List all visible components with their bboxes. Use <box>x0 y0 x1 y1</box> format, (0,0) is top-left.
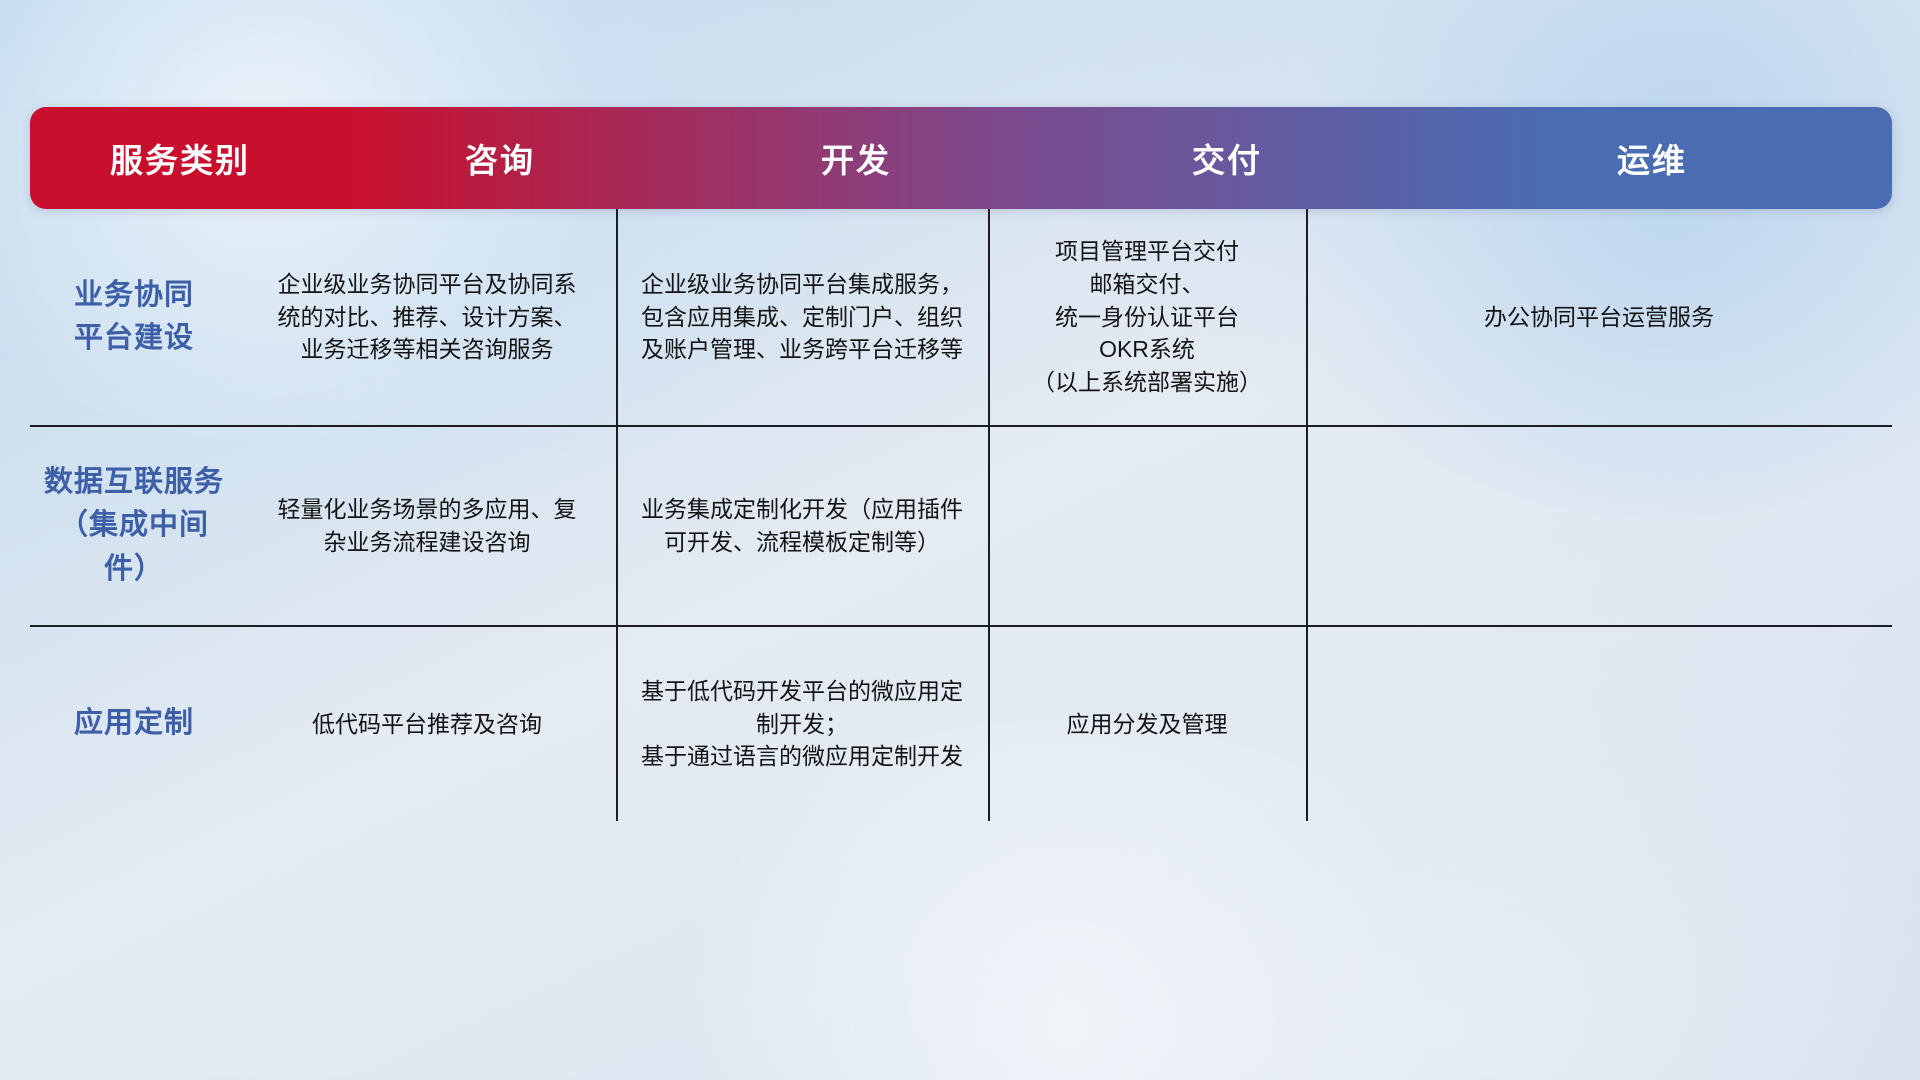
cell-delivery <box>988 427 1306 625</box>
table-row: 应用定制 低代码平台推荐及咨询 基于低代码开发平台的微应用定 制开发； 基于通过… <box>30 625 1892 821</box>
cell-category: 应用定制 <box>30 627 238 821</box>
cell-delivery: 应用分发及管理 <box>988 627 1306 821</box>
cell-development: 企业级业务协同平台集成服务， 包含应用集成、定制门户、组织 及账户管理、业务跨平… <box>616 209 988 425</box>
cell-operations: 办公协同平台运营服务 <box>1306 209 1892 425</box>
service-category-table: 服务类别 咨询 开发 交付 运维 业务协同 平台建设 企业级业务协同平台及协同系… <box>30 107 1892 821</box>
slide-canvas: 服务类别 咨询 开发 交付 运维 业务协同 平台建设 企业级业务协同平台及协同系… <box>0 0 1920 1080</box>
cell-category: 业务协同 平台建设 <box>30 209 238 425</box>
cell-operations <box>1306 627 1892 821</box>
cell-development: 业务集成定制化开发（应用插件 可开发、流程模板定制等） <box>616 427 988 625</box>
table-body: 业务协同 平台建设 企业级业务协同平台及协同系 统的对比、推荐、设计方案、 业务… <box>30 209 1892 821</box>
table-row: 业务协同 平台建设 企业级业务协同平台及协同系 统的对比、推荐、设计方案、 业务… <box>30 209 1892 425</box>
cell-consulting: 轻量化业务场景的多应用、复 杂业务流程建设咨询 <box>238 427 616 625</box>
column-header-delivery: 交付 <box>1042 134 1412 182</box>
cell-development: 基于低代码开发平台的微应用定 制开发； 基于通过语言的微应用定制开发 <box>616 627 988 821</box>
cell-consulting: 企业级业务协同平台及协同系 统的对比、推荐、设计方案、 业务迁移等相关咨询服务 <box>238 209 616 425</box>
column-header-development: 开发 <box>670 134 1042 182</box>
category-label: 业务协同 平台建设 <box>74 274 194 361</box>
column-header-operations: 运维 <box>1412 134 1892 182</box>
table-header-row: 服务类别 咨询 开发 交付 运维 <box>30 107 1892 209</box>
column-header-consulting: 咨询 <box>330 134 670 182</box>
table-row: 数据互联服务 （集成中间件） 轻量化业务场景的多应用、复 杂业务流程建设咨询 业… <box>30 425 1892 625</box>
cell-operations <box>1306 427 1892 625</box>
cell-consulting: 低代码平台推荐及咨询 <box>238 627 616 821</box>
category-label: 数据互联服务 （集成中间件） <box>44 461 224 592</box>
column-header-category: 服务类别 <box>30 134 330 182</box>
cell-category: 数据互联服务 （集成中间件） <box>30 427 238 625</box>
category-label: 应用定制 <box>74 702 194 746</box>
cell-delivery: 项目管理平台交付 邮箱交付、 统一身份认证平台 OKR系统 （以上系统部署实施） <box>988 209 1306 425</box>
